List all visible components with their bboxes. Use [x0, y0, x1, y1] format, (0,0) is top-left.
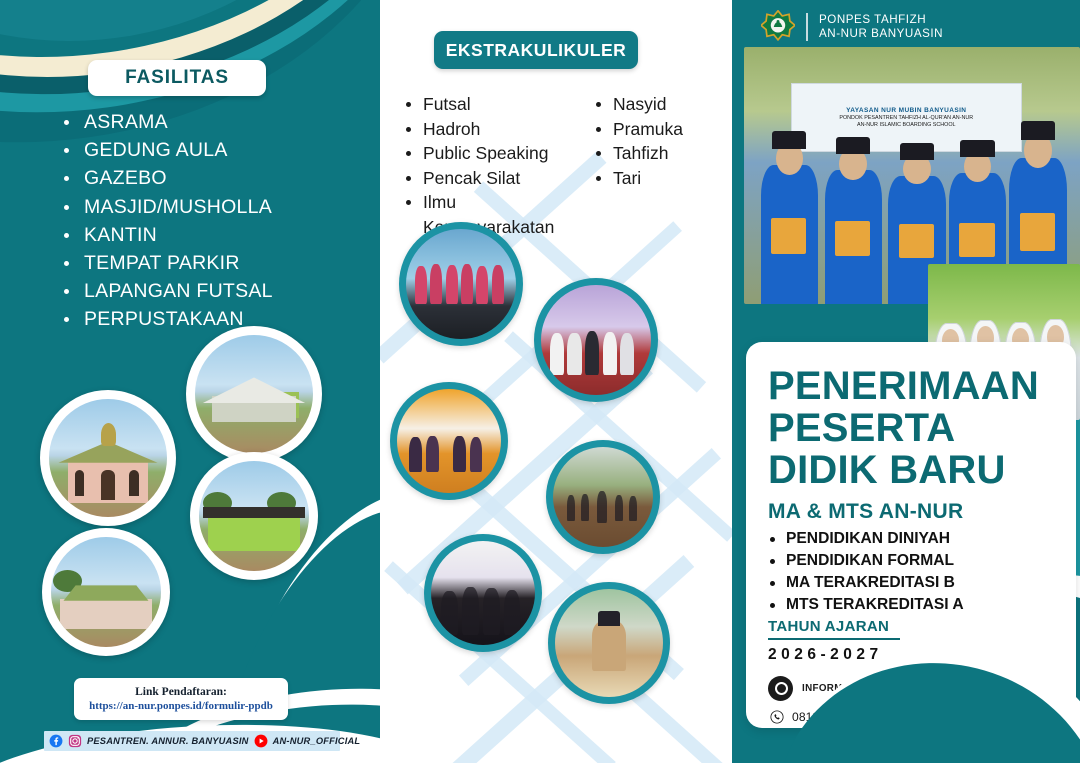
- list-item: Tari: [592, 166, 683, 191]
- brand-header: PONPES TAHFIZH AN-NUR BANYUASIN: [761, 10, 943, 44]
- brand-name-line1: PONPES TAHFIZH: [819, 13, 943, 28]
- list-item: Pencak Silat: [402, 166, 592, 191]
- subheading: MA & MTS AN-NUR: [768, 500, 963, 524]
- fasilitas-title-badge: FASILITAS: [88, 60, 266, 96]
- info-pin-icon: [768, 676, 793, 701]
- asrama-photo: [42, 528, 170, 656]
- instagram-icon[interactable]: [68, 734, 82, 748]
- brand-name: PONPES TAHFIZH AN-NUR BANYUASIN: [819, 13, 943, 42]
- facebook-icon[interactable]: [49, 734, 63, 748]
- tahfizh-quran-photo: [548, 582, 670, 704]
- list-item: Futsal: [402, 92, 592, 117]
- banner-line3: AN-NUR ISLAMIC BOARDING SCHOOL: [857, 122, 956, 128]
- brand-name-line2: AN-NUR BANYUASIN: [819, 27, 943, 42]
- pencak-silat-field-photo: [546, 440, 660, 554]
- fb-ig-handle: PESANTREN. ANNUR. BANYUASIN: [87, 736, 249, 746]
- list-item: MTS TERAKREDITASI A: [768, 594, 964, 616]
- list-item: PERPUSTAKAAN: [60, 305, 380, 333]
- extracurricular-column-2: Nasyid Pramuka Tahfizh Tari: [592, 92, 683, 239]
- brochure-page: FASILITAS ASRAMA GEDUNG AULA GAZEBO MASJ…: [0, 0, 1080, 763]
- year-label: TAHUN AJARAN: [768, 618, 889, 635]
- middle-panel: EKSTRAKULIKULER Futsal Hadroh Public Spe…: [380, 0, 732, 763]
- list-item: GEDUNG AULA: [60, 136, 380, 164]
- divider: [806, 13, 808, 41]
- list-item: Nasyid: [592, 92, 683, 117]
- list-item: GAZEBO: [60, 164, 380, 192]
- list-item: Tahfizh: [592, 141, 683, 166]
- list-item: MASJID/MUSHOLLA: [60, 193, 380, 221]
- extracurricular-columns: Futsal Hadroh Public Speaking Pencak Sil…: [402, 92, 732, 239]
- phone-icon: [770, 710, 784, 724]
- facilities-list: ASRAMA GEDUNG AULA GAZEBO MASJID/MUSHOLL…: [60, 108, 380, 334]
- extracurricular-column-1: Futsal Hadroh Public Speaking Pencak Sil…: [402, 92, 592, 239]
- list-item: LAPANGAN FUTSAL: [60, 277, 380, 305]
- registration-link-url[interactable]: https://an-nur.ponpes.id/formulir-ppdb: [89, 700, 273, 712]
- left-panel: FASILITAS ASRAMA GEDUNG AULA GAZEBO MASJ…: [0, 0, 380, 763]
- list-item: Hadroh: [402, 117, 592, 142]
- list-item: KANTIN: [60, 221, 380, 249]
- list-item: TEMPAT PARKIR: [60, 249, 380, 277]
- list-item: PENDIDIKAN FORMAL: [768, 550, 964, 572]
- banner-line1: YAYASAN NUR MUBIN BANYUASIN: [846, 107, 966, 114]
- heading-line1: PENERIMAAN: [768, 366, 1039, 406]
- classroom-green-photo: [190, 452, 318, 580]
- tari-performance-photo: [399, 222, 523, 346]
- masjid-photo: [40, 390, 176, 526]
- year-value: 2026-2027: [768, 646, 883, 664]
- gazebo-photo: [186, 326, 322, 462]
- stage-event-photo: [390, 382, 508, 500]
- heading-line3: DIDIK BARU: [768, 450, 1006, 490]
- youtube-icon[interactable]: [254, 734, 268, 748]
- divider: [768, 638, 900, 640]
- ekstrakulikuler-title: EKSTRAKULIKULER: [446, 40, 627, 61]
- heading-line2: PESERTA: [768, 408, 955, 448]
- social-bar: PESANTREN. ANNUR. BANYUASIN AN-NUR_OFFIC…: [44, 731, 340, 751]
- list-item: PENDIDIKAN DINIYAH: [768, 528, 964, 550]
- ekstrakulikuler-title-badge: EKSTRAKULIKULER: [434, 31, 638, 69]
- right-panel: PONPES TAHFIZH AN-NUR BANYUASIN YAYASAN …: [732, 0, 1080, 763]
- youtube-handle: AN-NUR_OFFICIAL: [273, 736, 361, 746]
- banner-line2: PONDOK PESANTREN TAHFIZH AL-QUR'AN AN-NU…: [839, 115, 973, 121]
- registration-link-label: Link Pendaftaran:: [135, 686, 227, 698]
- registration-link-box[interactable]: Link Pendaftaran: https://an-nur.ponpes.…: [74, 678, 288, 720]
- santriwati-group-photo: [424, 534, 542, 652]
- list-item: ASRAMA: [60, 108, 380, 136]
- list-item: Public Speaking: [402, 141, 592, 166]
- islamic-star-emblem-icon: [761, 10, 795, 44]
- list-item: Pramuka: [592, 117, 683, 142]
- program-points-list: PENDIDIKAN DINIYAH PENDIDIKAN FORMAL MA …: [768, 528, 964, 616]
- fasilitas-title: FASILITAS: [125, 67, 229, 89]
- haflah-akhirussanah-photo: [534, 278, 658, 402]
- list-item: MA TERAKREDITASI B: [768, 572, 964, 594]
